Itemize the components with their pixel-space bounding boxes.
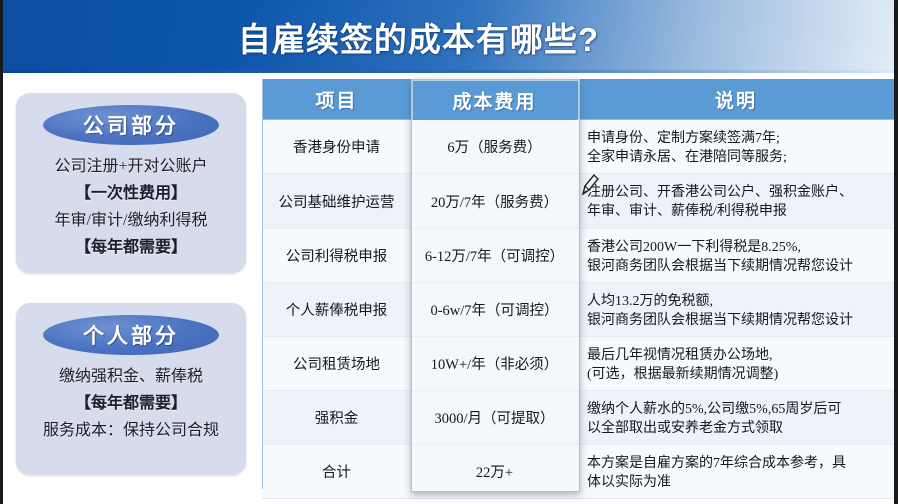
table-cell-item: 公司利得税申报: [262, 229, 411, 282]
highlight-column-header: 成本费用: [412, 80, 577, 120]
table-cell-item: 个人薪俸税申报: [262, 283, 411, 336]
panel-company-line-2: 【一次性费用】: [16, 180, 246, 207]
panel-personal: 个人部分 缴纳强积金、薪俸税 【每年都需要】 服务成本：保持公司合规: [16, 303, 246, 475]
panel-company: 公司部分 公司注册+开对公账户 【一次性费用】 年审/审计/缴纳利得税 【每年都…: [16, 93, 246, 273]
table-cell-desc: 人均13.2万的免税额,银河商务团队会根据当下续期情况帮您设计: [578, 283, 894, 336]
highlight-cell-cost: 3000/月（可提取）: [412, 391, 577, 445]
table-cell-desc: 香港公司200W一下利得税是8.25%,银河商务团队会根据当下续期情况帮您设计: [578, 229, 894, 282]
table-cell-desc-line: 银河商务团队会根据当下续期情况帮您设计: [587, 257, 888, 276]
table-cell-item: 香港身份申请: [262, 120, 411, 173]
highlight-cell-cost: 10W+/年（非必须）: [412, 337, 577, 391]
table-cell-desc-line: 本方案是自雇方案的7年综合成本参考，具: [587, 454, 888, 473]
table-cell-desc-line: 缴纳个人薪水的5%,公司缴5%,65周岁后可: [587, 400, 888, 419]
title-banner: 自雇续签的成本有哪些?: [3, 0, 894, 73]
panel-personal-badge: 个人部分: [43, 315, 219, 355]
table-cell-desc-line: 以全部取出或安养老金方式领取: [587, 419, 888, 438]
right-edge-border: [894, 0, 898, 504]
table-cell-item: 强积金: [262, 391, 411, 444]
panel-company-line-1: 公司注册+开对公账户: [16, 153, 246, 180]
table-cell-desc: 最后几年视情况租赁办公场地,(可选，根据最新续期情况调整): [578, 337, 894, 390]
table-cell-desc: 缴纳个人薪水的5%,公司缴5%,65周岁后可以全部取出或安养老金方式领取: [578, 391, 894, 444]
table-cell-desc-line: (可选，根据最新续期情况调整): [587, 365, 888, 384]
table-cell-desc: 本方案是自雇方案的7年综合成本参考，具体以实际为准: [578, 445, 894, 498]
table-cell-desc-line: 年审、审计、薪俸税/利得税申报: [587, 202, 888, 221]
highlight-cell-cost: 22万+: [412, 445, 577, 498]
cost-table: 项目 成本费用 说明 香港身份申请6万（服务费）申请身份、定制方案续签满7年;全…: [262, 79, 894, 489]
panel-company-badge: 公司部分: [43, 105, 219, 145]
panel-company-line-4: 【每年都需要】: [16, 234, 246, 261]
page-title: 自雇续签的成本有哪些?: [3, 0, 894, 73]
panel-personal-line-1: 缴纳强积金、薪俸税: [16, 363, 246, 390]
table-cell-desc-line: 全家申请永居、在港陪同等服务;: [587, 148, 888, 167]
highlight-cell-cost: 20万/7年（服务费）: [412, 174, 577, 229]
panel-personal-line-3: 服务成本：保持公司合规: [16, 417, 246, 444]
table-cell-desc: 注册公司、开香港公司公户、强积金账户、年审、审计、薪俸税/利得税申报: [578, 174, 894, 228]
pen-cursor-icon: [580, 172, 602, 198]
panel-personal-lines: 缴纳强积金、薪俸税 【每年都需要】 服务成本：保持公司合规: [16, 363, 246, 444]
table-column-divider-2: [578, 120, 579, 489]
slide-page: 自雇续签的成本有哪些? 公司部分 公司注册+开对公账户 【一次性费用】 年审/审…: [0, 0, 898, 504]
table-cell-item: 合计: [262, 445, 411, 498]
panel-personal-line-2: 【每年都需要】: [16, 390, 246, 417]
panel-company-line-3: 年审/审计/缴纳利得税: [16, 207, 246, 234]
table-header-item: 项目: [262, 79, 411, 120]
table-cell-desc-line: 注册公司、开香港公司公户、强积金账户、: [587, 183, 888, 202]
table-cell-desc-line: 银河商务团队会根据当下续期情况帮您设计: [587, 311, 888, 330]
table-cell-desc-line: 最后几年视情况租赁办公场地,: [587, 346, 888, 365]
highlight-cell-cost: 6-12万/7年（可调控）: [412, 229, 577, 283]
highlight-column-cells: 6万（服务费）20万/7年（服务费）6-12万/7年（可调控）0-6w/7年（可…: [412, 120, 577, 498]
panel-company-lines: 公司注册+开对公账户 【一次性费用】 年审/审计/缴纳利得税 【每年都需要】: [16, 153, 246, 261]
table-cell-desc-line: 体以实际为准: [587, 473, 888, 492]
table-header-row: 项目 成本费用 说明: [262, 79, 894, 120]
left-edge-border: [0, 0, 3, 504]
highlight-cell-cost: 0-6w/7年（可调控）: [412, 283, 577, 337]
table-cell-desc-line: 人均13.2万的免税额,: [587, 292, 888, 311]
highlight-cell-cost: 6万（服务费）: [412, 120, 577, 174]
table-cell-desc-line: 申请身份、定制方案续签满7年;: [587, 129, 888, 148]
table-cell-item: 公司基础维护运营: [262, 174, 411, 228]
table-cell-desc-line: 香港公司200W一下利得税是8.25%,: [587, 238, 888, 257]
table-cell-desc: 申请身份、定制方案续签满7年;全家申请永居、在港陪同等服务;: [578, 120, 894, 173]
table-header-desc: 说明: [578, 79, 894, 120]
table-cell-item: 公司租赁场地: [262, 337, 411, 390]
table-left-border: [262, 79, 263, 489]
